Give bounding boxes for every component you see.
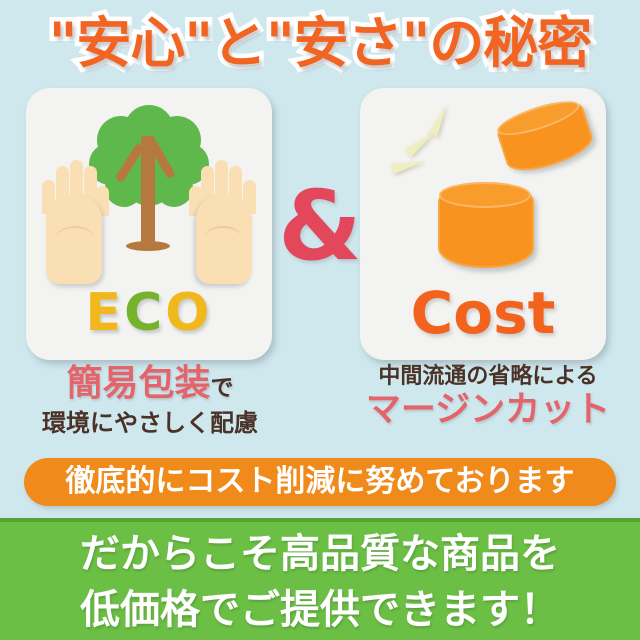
open-hand-left-icon [40,156,108,284]
caption-right: 中間流通の省略による マージンカット [338,364,638,430]
eco-wordmark: ECO [26,284,272,342]
title-area: "安心"と"安さ"の秘密 [0,6,640,82]
page-title: "安心"と"安さ"の秘密 [49,6,592,80]
impact-line-3-icon [391,156,426,174]
cost-wordmark: Cost [360,280,606,346]
cost-reduction-banner-text: 徹底的にコスト削減に努めております [24,458,616,506]
coin-stack-icon [438,182,534,268]
cost-illustration [360,94,606,290]
impact-line-2-icon [405,129,438,158]
eco-card: ECO [26,88,272,360]
caption-left-headline-tail: で [211,375,234,401]
coin-cut-piece-icon [493,94,597,179]
eco-letter-e: E [86,283,125,343]
tree-base-icon [126,241,170,251]
caption-left-headline: 簡易包装で [0,364,300,408]
caption-left-subtext: 環境にやさしく配慮 [0,408,300,438]
promo-banner: "安心"と"安さ"の秘密 [0,0,640,640]
open-hand-right-icon [190,156,258,284]
caption-right-headline: マージンカット [338,390,638,430]
cost-reduction-banner: 徹底的にコスト削減に努めております [24,458,616,506]
ampersand-symbol: & [272,178,368,274]
caption-right-subtext: 中間流通の省略による [338,364,638,390]
footer-banner: だからこそ高品質な商品を 低価格でご提供できます！ [0,518,640,640]
eco-letter-c: C [124,283,165,343]
eco-letter-o: O [165,283,212,343]
caption-left-headline-main: 簡易包装 [66,363,210,404]
eco-illustration [26,96,272,286]
footer-line-1: だからこそ高品質な商品を [0,526,640,582]
cost-card: Cost [360,88,606,360]
caption-left: 簡易包装で 環境にやさしく配慮 [0,364,300,438]
tree-trunk-icon [141,136,155,248]
footer-line-2: 低価格でご提供できます！ [0,582,640,638]
